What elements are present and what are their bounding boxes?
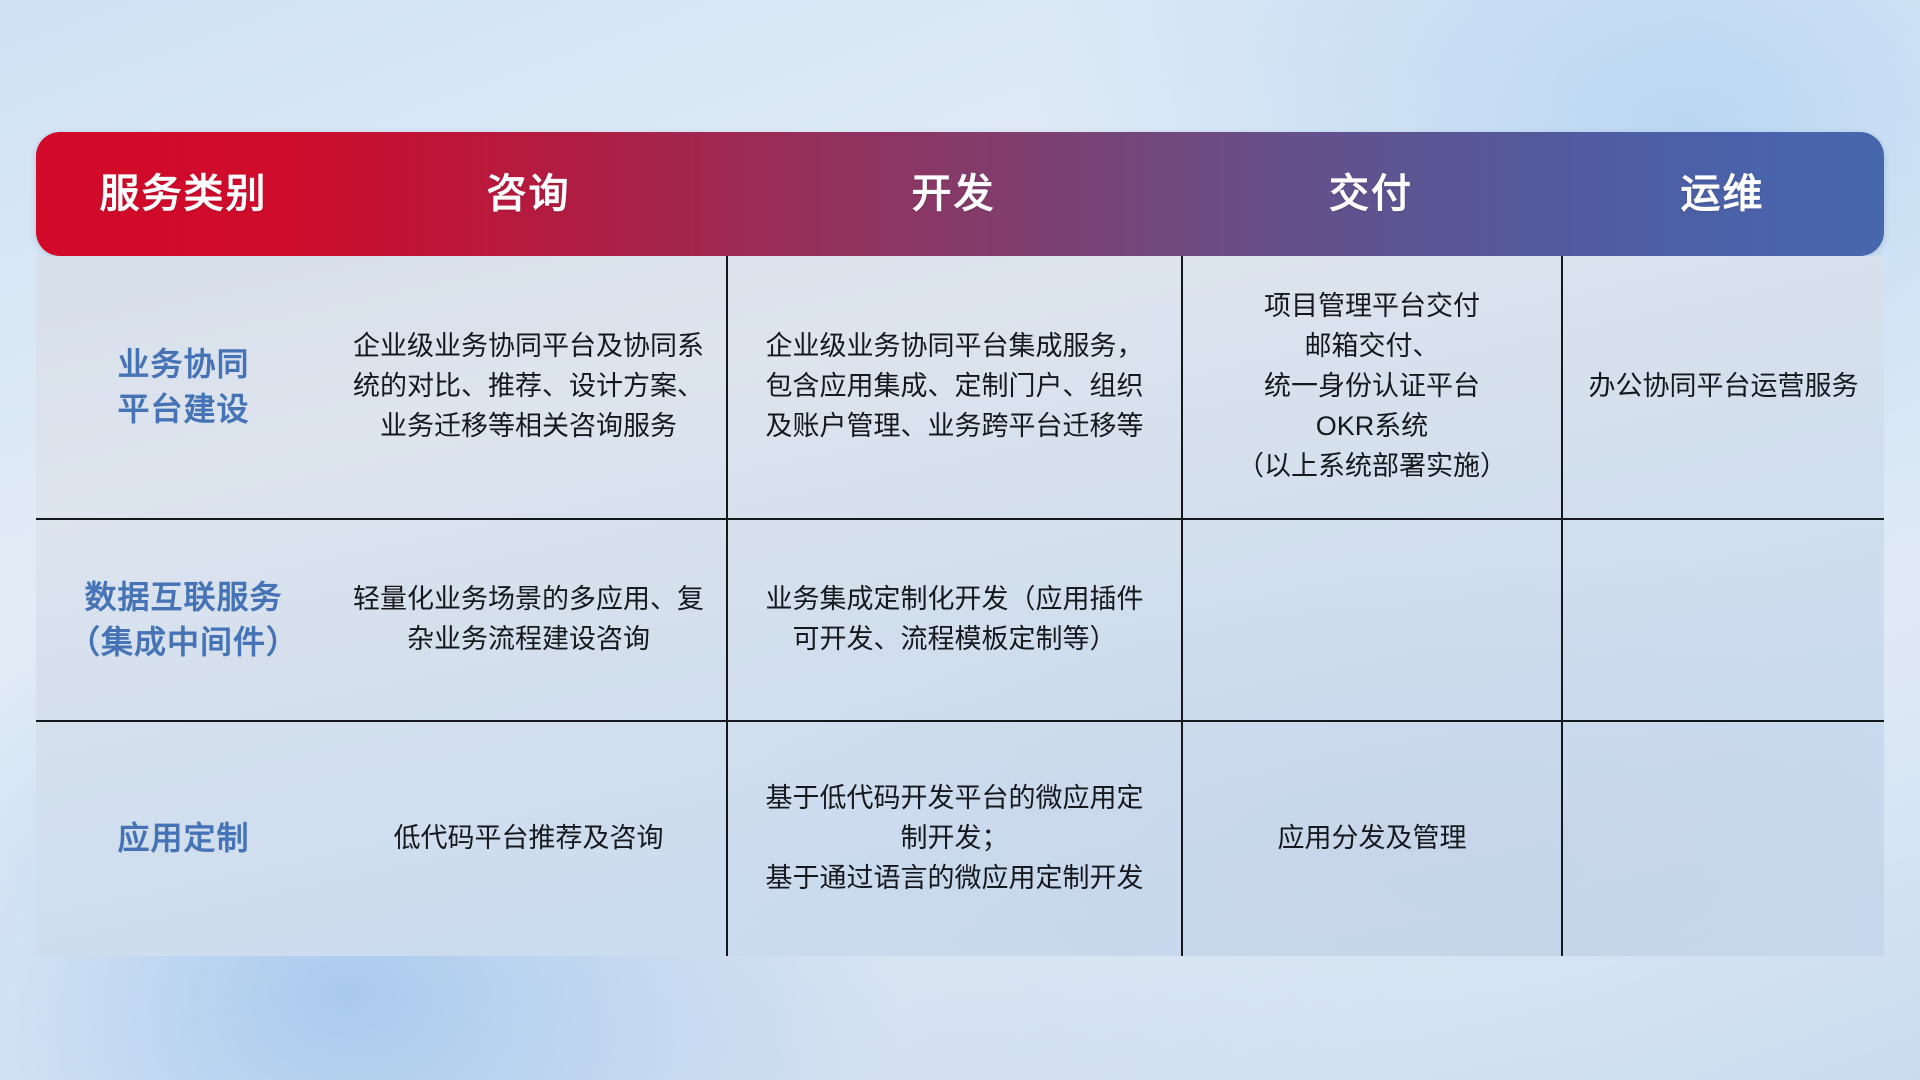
table-header-row: 服务类别 咨询 开发 交付 运维: [36, 132, 1884, 256]
cell-delivery-row2: [1181, 520, 1561, 720]
row-label-business-collaboration: 业务协同 平台建设: [36, 256, 331, 518]
cell-consulting-row1: 企业级业务协同平台及协同系 统的对比、推荐、设计方案、 业务迁移等相关咨询服务: [331, 256, 726, 518]
table-body: 业务协同 平台建设 企业级业务协同平台及协同系 统的对比、推荐、设计方案、 业务…: [36, 256, 1884, 956]
cell-consulting-row3: 低代码平台推荐及咨询: [331, 722, 726, 956]
cell-operations-row1: 办公协同平台运营服务: [1561, 256, 1884, 518]
cell-development-row3: 基于低代码开发平台的微应用定 制开发； 基于通过语言的微应用定制开发: [726, 722, 1181, 956]
cell-operations-row3: [1561, 722, 1884, 956]
column-header-consulting: 咨询: [331, 174, 726, 214]
cell-development-row1: 企业级业务协同平台集成服务， 包含应用集成、定制门户、组织 及账户管理、业务跨平…: [726, 256, 1181, 518]
cell-delivery-row3: 应用分发及管理: [1181, 722, 1561, 956]
table-row: 业务协同 平台建设 企业级业务协同平台及协同系 统的对比、推荐、设计方案、 业务…: [36, 256, 1884, 520]
table-row: 应用定制 低代码平台推荐及咨询 基于低代码开发平台的微应用定 制开发； 基于通过…: [36, 722, 1884, 956]
cell-operations-row2: [1561, 520, 1884, 720]
column-header-delivery: 交付: [1181, 174, 1561, 214]
row-label-data-interconnect: 数据互联服务 （集成中间件）: [36, 520, 331, 720]
cell-development-row2: 业务集成定制化开发（应用插件 可开发、流程模板定制等）: [726, 520, 1181, 720]
cell-consulting-row2: 轻量化业务场景的多应用、复 杂业务流程建设咨询: [331, 520, 726, 720]
column-header-development: 开发: [726, 174, 1181, 214]
cell-delivery-row1: 项目管理平台交付 邮箱交付、 统一身份认证平台 OKR系统 （以上系统部署实施）: [1181, 256, 1561, 518]
service-matrix-table: 服务类别 咨询 开发 交付 运维 业务协同 平台建设 企业级业务协同平台及协同系…: [36, 132, 1884, 952]
column-header-operations: 运维: [1561, 174, 1884, 214]
row-label-app-customization: 应用定制: [36, 722, 331, 956]
table-row: 数据互联服务 （集成中间件） 轻量化业务场景的多应用、复 杂业务流程建设咨询 业…: [36, 520, 1884, 722]
column-header-category: 服务类别: [36, 174, 331, 214]
